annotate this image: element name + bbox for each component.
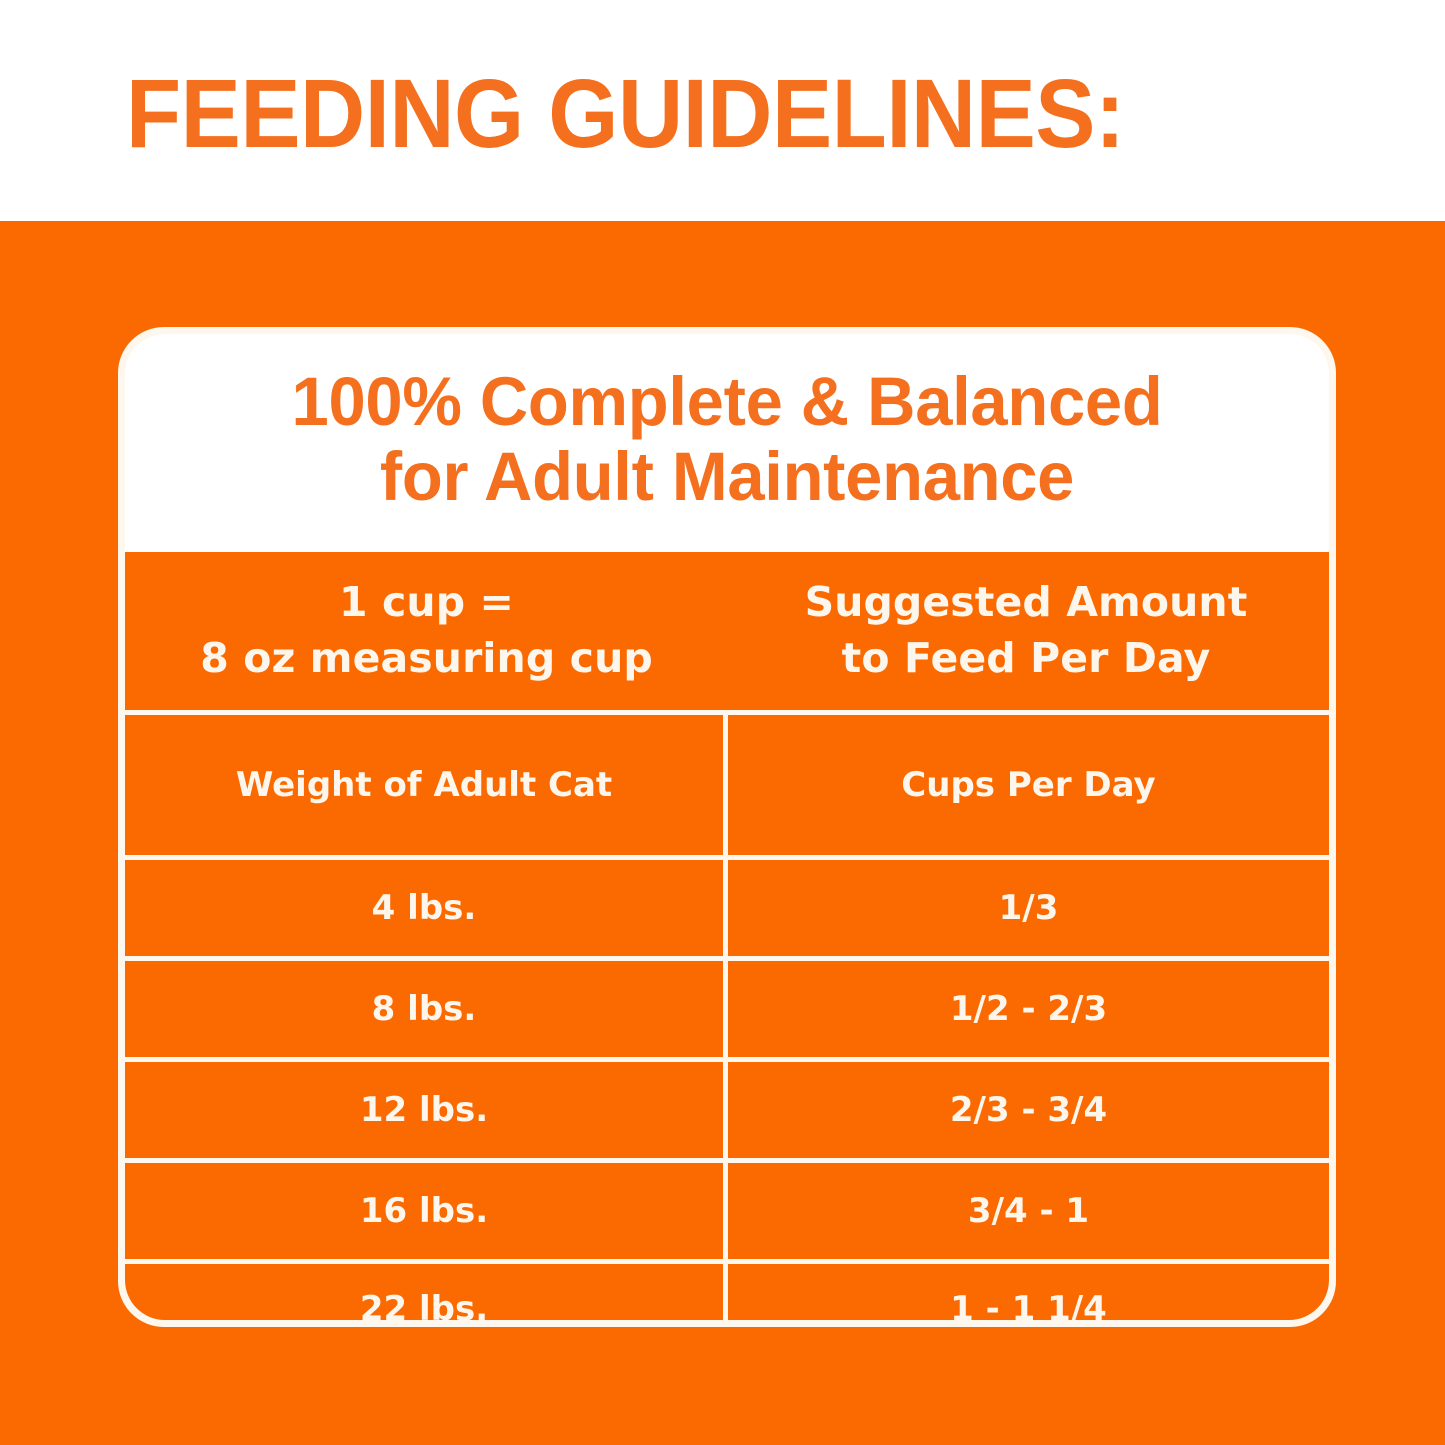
table-header-row: 1 cup = 8 oz measuring cup Suggested Amo…: [125, 552, 1329, 710]
cell-weight: 12 lbs.: [125, 1062, 723, 1158]
measure-label-line-2: 8 oz measuring cup: [128, 631, 726, 687]
cell-cups: 1/3: [728, 860, 1329, 956]
feeding-guidelines-panel: FEEDING GUIDELINES: 100% Complete & Bala…: [0, 0, 1445, 1445]
table-row: 22 lbs. 1 - 1 1/4: [125, 1264, 1329, 1320]
cell-weight: 22 lbs.: [125, 1264, 723, 1320]
card-headline-line-1: 100% Complete & Balanced: [292, 363, 1163, 440]
page-title: FEEDING GUIDELINES:: [126, 59, 1125, 162]
column-header-cups: Cups Per Day: [728, 715, 1329, 855]
feeding-card: 100% Complete & Balanced for Adult Maint…: [118, 327, 1336, 1327]
cell-cups: 1 - 1 1/4: [728, 1264, 1329, 1320]
cell-weight: 16 lbs.: [125, 1163, 723, 1259]
table-row: 4 lbs. 1/3: [125, 860, 1329, 956]
cell-weight: 8 lbs.: [125, 961, 723, 1057]
feeding-card-inner: 100% Complete & Balanced for Adult Maint…: [125, 334, 1329, 1320]
column-header-weight: Weight of Adult Cat: [125, 715, 723, 855]
cell-cups: 1/2 - 2/3: [728, 961, 1329, 1057]
table-row: 12 lbs. 2/3 - 3/4: [125, 1062, 1329, 1158]
cell-cups: 2/3 - 3/4: [728, 1062, 1329, 1158]
header-band: FEEDING GUIDELINES:: [0, 0, 1445, 221]
table-column-header-row: Weight of Adult Cat Cups Per Day: [125, 715, 1329, 855]
measure-label-line-1: 1 cup =: [128, 575, 726, 631]
suggested-amount-line-2: to Feed Per Day: [726, 631, 1327, 687]
table-row: 8 lbs. 1/2 - 2/3: [125, 961, 1329, 1057]
card-headline-line-2: for Adult Maintenance: [380, 438, 1074, 515]
feeding-table: 1 cup = 8 oz measuring cup Suggested Amo…: [125, 552, 1329, 1320]
cell-weight: 4 lbs.: [125, 860, 723, 956]
card-headline: 100% Complete & Balanced for Adult Maint…: [143, 364, 1311, 514]
cell-cups: 3/4 - 1: [728, 1163, 1329, 1259]
table-header-cell: 1 cup = 8 oz measuring cup Suggested Amo…: [125, 552, 1329, 710]
suggested-amount-line-1: Suggested Amount: [726, 575, 1327, 631]
table-row: 16 lbs. 3/4 - 1: [125, 1163, 1329, 1259]
